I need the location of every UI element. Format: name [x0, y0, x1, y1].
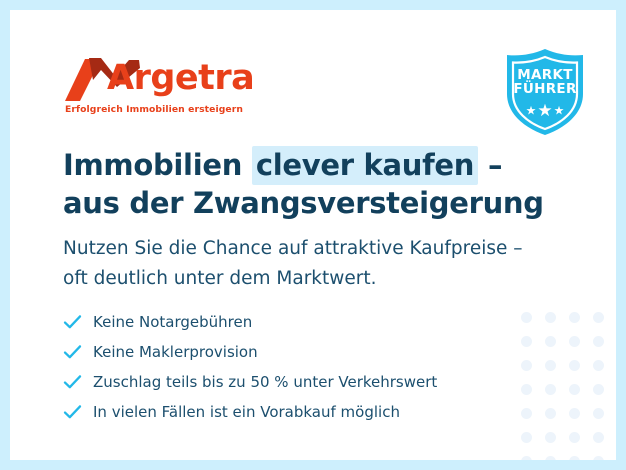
decorative-dot	[569, 456, 580, 460]
benefit-item: Zuschlag teils bis zu 50 % unter Verkehr…	[63, 367, 533, 397]
decorative-dot	[545, 384, 556, 395]
decorative-dot	[545, 432, 556, 443]
decorative-dot	[545, 312, 556, 323]
headline-suffix: –	[478, 148, 502, 182]
decorative-dot	[545, 336, 556, 347]
headline-line-2: aus der Zwangsversteigerung	[63, 184, 543, 222]
decorative-dot	[521, 432, 532, 443]
subheadline-line-1: Nutzen Sie die Chance auf attraktive Kau…	[63, 234, 563, 264]
badge-line-1: MARKT	[499, 68, 591, 82]
decorative-dot	[521, 456, 532, 460]
decorative-dot	[593, 312, 604, 323]
logo-wordmark: Argetra	[107, 56, 254, 100]
badge-star-left: ★	[526, 104, 537, 118]
decorative-dot	[569, 384, 580, 395]
subheadline: Nutzen Sie die Chance auf attraktive Kau…	[63, 234, 563, 294]
badge-star-right: ★	[554, 104, 565, 118]
decorative-dot	[593, 408, 604, 419]
decorative-dot	[593, 456, 604, 460]
benefit-label: In vielen Fällen ist ein Vorabkauf mögli…	[93, 402, 400, 422]
argetra-logo[interactable]: Argetra Erfolgreich Immobilien ersteiger…	[63, 54, 263, 120]
decorative-dot	[545, 456, 556, 460]
decorative-dot	[569, 408, 580, 419]
benefit-item: Keine Notargebühren	[63, 307, 533, 337]
check-icon	[63, 314, 93, 330]
benefits-list: Keine NotargebührenKeine Maklerprovision…	[63, 307, 533, 427]
market-leader-badge: MARKT FÜHRER ★★★	[499, 46, 591, 138]
ad-frame: Argetra Erfolgreich Immobilien ersteiger…	[0, 0, 626, 470]
badge-label: MARKT FÜHRER	[499, 68, 591, 96]
headline: Immobilien clever kaufen – aus der Zwang…	[63, 146, 543, 222]
headline-highlight: clever kaufen	[252, 146, 478, 185]
benefit-label: Keine Maklerprovision	[93, 342, 258, 362]
headline-line-1: Immobilien clever kaufen –	[63, 146, 543, 184]
benefit-label: Zuschlag teils bis zu 50 % unter Verkehr…	[93, 372, 437, 392]
ad-card: Argetra Erfolgreich Immobilien ersteiger…	[10, 10, 616, 460]
badge-stars: ★★★	[499, 102, 591, 119]
headline-prefix: Immobilien	[63, 148, 252, 182]
logo-tagline: Erfolgreich Immobilien ersteigern	[65, 104, 243, 115]
decorative-dot	[569, 432, 580, 443]
decorative-dot	[593, 432, 604, 443]
decorative-dot	[569, 312, 580, 323]
decorative-dot	[545, 408, 556, 419]
decorative-dot	[593, 360, 604, 371]
decorative-dot	[569, 360, 580, 371]
check-icon	[63, 344, 93, 360]
decorative-dot-grid	[521, 312, 616, 460]
decorative-dot	[593, 336, 604, 347]
check-icon	[63, 374, 93, 390]
decorative-dot	[545, 360, 556, 371]
badge-star-center: ★	[537, 101, 552, 120]
subheadline-line-2: oft deutlich unter dem Marktwert.	[63, 264, 563, 294]
benefit-item: In vielen Fällen ist ein Vorabkauf mögli…	[63, 397, 533, 427]
benefit-item: Keine Maklerprovision	[63, 337, 533, 367]
check-icon	[63, 404, 93, 420]
decorative-dot	[569, 336, 580, 347]
benefit-label: Keine Notargebühren	[93, 312, 252, 332]
badge-line-2: FÜHRER	[499, 82, 591, 96]
decorative-dot	[593, 384, 604, 395]
